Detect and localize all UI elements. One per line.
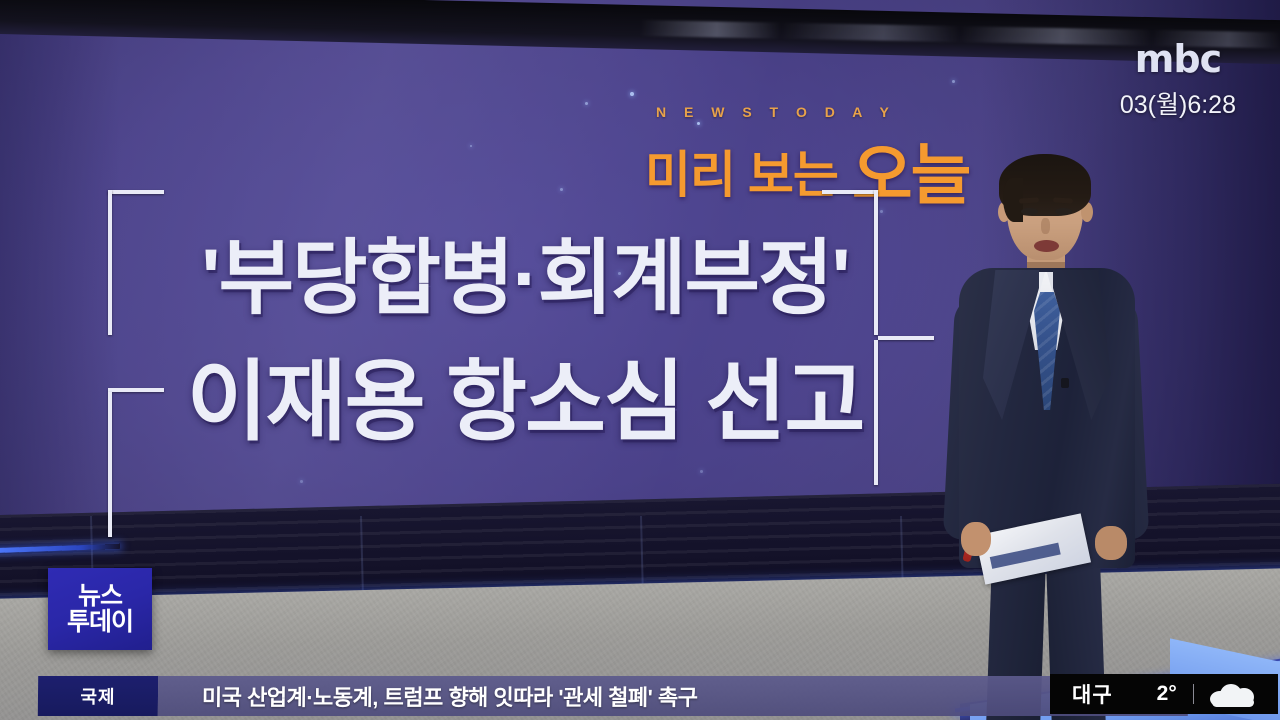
- graphic-title: 미리 보는오늘: [645, 122, 969, 218]
- weather-city: 대구: [1072, 679, 1113, 709]
- headline-line-2: 이재용 항소심 선고: [110, 355, 940, 448]
- anchor-hair: [999, 154, 1091, 216]
- program-logo-line-1: 뉴스: [78, 583, 122, 609]
- headline-line-1: '부당합병·회계부정': [110, 236, 940, 323]
- ticker-headline-band: 미국 산업계·노동계, 트럼프 향해 잇따라 '관세 철폐' 촉구: [158, 676, 1188, 716]
- anchor-hand-left: [961, 522, 991, 556]
- anchor-eye-right: [1055, 208, 1072, 215]
- news-ticker: 국제 미국 산업계·노동계, 트럼프 향해 잇따라 '관세 철폐' 촉구 대구 …: [0, 670, 1280, 720]
- anchor-eye-left: [1021, 208, 1038, 215]
- weather-temperature: 2°: [1157, 682, 1177, 706]
- weather-widget: 대구 2°: [1050, 674, 1278, 714]
- broadcaster-bug: mbc 03(월)6:28: [1120, 40, 1236, 121]
- ticker-category-badge: 국제: [38, 676, 158, 716]
- news-today-kicker: N E W S T O D A Y: [656, 104, 896, 120]
- lapel-microphone-icon: [1061, 378, 1069, 388]
- program-logo-line-2: 투데이: [67, 609, 133, 635]
- ticker-headline-text: 미국 산업계·노동계, 트럼프 향해 잇따라 '관세 철폐' 촉구: [202, 680, 698, 712]
- anchor-hand-right: [1095, 526, 1127, 560]
- mbc-logo: mbc: [1120, 40, 1236, 78]
- anchor-mouth: [1034, 240, 1059, 252]
- anchor-nose: [1041, 218, 1050, 234]
- graphic-title-small: 미리 보는: [645, 147, 838, 203]
- broadcast-screen: N E W S T O D A Y 미리 보는오늘 '부당합병·회계부정' 이재…: [0, 0, 1280, 720]
- weather-divider: [1193, 684, 1194, 704]
- ticker-bar: 국제 미국 산업계·노동계, 트럼프 향해 잇따라 '관세 철폐' 촉구: [38, 676, 1188, 716]
- cloud-icon: [1208, 681, 1258, 707]
- wall-graphic: N E W S T O D A Y 미리 보는오늘 '부당합병·회계부정' 이재…: [0, 0, 1000, 560]
- news-anchor: [935, 140, 1165, 660]
- program-logo: 뉴스 투데이: [48, 568, 152, 650]
- ticker-category-label: 국제: [80, 683, 115, 709]
- on-air-clock: 03(월)6:28: [1120, 85, 1236, 121]
